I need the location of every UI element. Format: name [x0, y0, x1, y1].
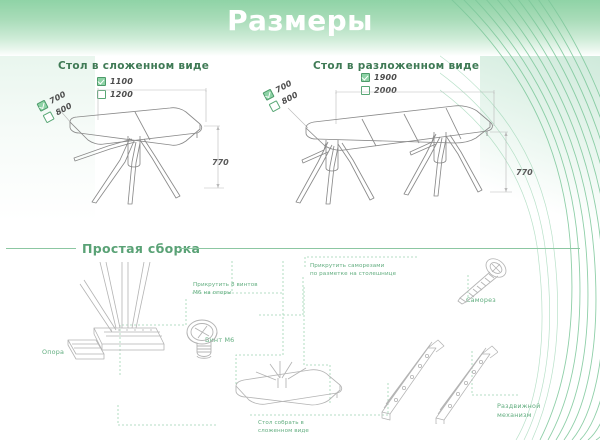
- panel-title-folded: Стол в сложенном виде: [58, 60, 209, 72]
- assembly-rule-right: [180, 248, 580, 249]
- folded-table-drawing: [28, 86, 248, 211]
- note-assemble-folded: Стол собрать в сложенном виде: [258, 419, 309, 436]
- assembly-rule-left: [6, 248, 76, 249]
- height-dimension-folded: 770: [212, 158, 229, 167]
- height-dimension-extended: 770: [516, 168, 533, 177]
- assembled-table-drawing: [218, 358, 348, 420]
- panel-title-extended: Стол в разложенном виде: [313, 60, 479, 72]
- self-tapping-screw-drawing: [452, 258, 512, 306]
- page-title: Размеры: [0, 4, 600, 37]
- poster-page: Размеры Стол в сложенном виде 1100: [0, 0, 600, 440]
- option-label: 1100: [110, 77, 133, 86]
- leg-support-drawing: [60, 262, 190, 392]
- page-header: Размеры: [0, 0, 600, 56]
- slide-mechanism-drawing: [378, 336, 498, 424]
- note-screws-to-legs: Прикрутить 8 винтов М6 на опоры: [193, 281, 258, 298]
- note-selftap-to-top: Прикрутить саморезами по разметке на сто…: [310, 262, 396, 279]
- extended-table-drawing: [258, 80, 528, 210]
- checkbox-checked-icon[interactable]: [97, 77, 106, 86]
- part-label-slide-mechanism: Раздвижной механизм: [497, 402, 541, 421]
